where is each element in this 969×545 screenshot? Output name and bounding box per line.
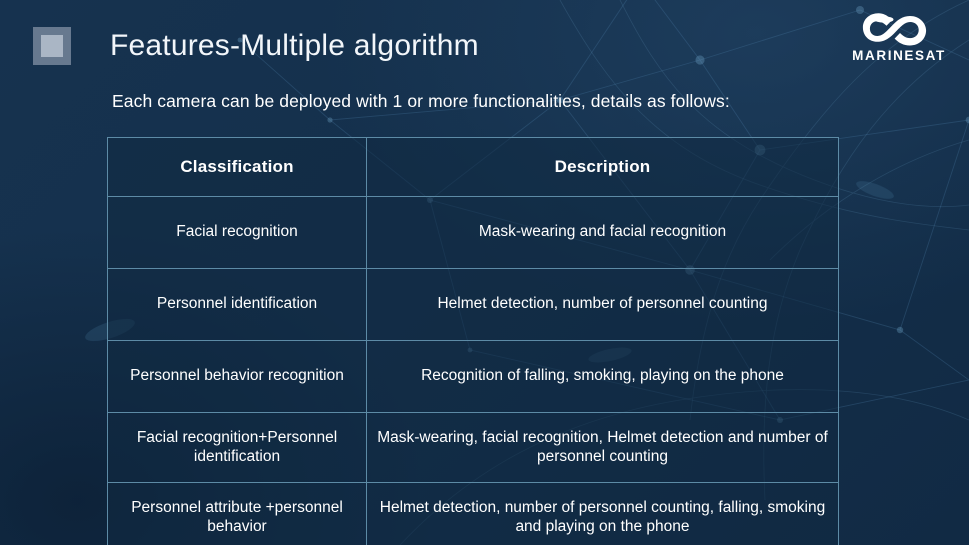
infinity-wave-icon [856, 10, 942, 46]
cell-description: Recognition of falling, smoking, playing… [367, 341, 839, 413]
cell-classification: Personnel identification [108, 269, 367, 341]
table-row: Personnel attribute +personnel behavior … [108, 483, 839, 545]
brand-logo: MARINESAT [845, 10, 953, 68]
square-bullet-inner [41, 35, 63, 57]
cell-description: Helmet detection, number of personnel co… [367, 269, 839, 341]
square-bullet-icon [33, 27, 71, 65]
logo-wordmark: MARINESAT [852, 48, 946, 63]
table-row: Facial recognition+Personnel identificat… [108, 413, 839, 483]
table-row: Personnel identification Helmet detectio… [108, 269, 839, 341]
table-body: Facial recognition Mask-wearing and faci… [108, 197, 839, 545]
cell-description: Helmet detection, number of personnel co… [367, 483, 839, 545]
cell-classification: Facial recognition [108, 197, 367, 269]
table-row: Personnel behavior recognition Recogniti… [108, 341, 839, 413]
slide-canvas: Features-Multiple algorithm MARINESAT Ea… [0, 0, 969, 545]
column-header-classification: Classification [108, 138, 367, 197]
features-table: Classification Description Facial recogn… [107, 137, 839, 545]
table-head: Classification Description [108, 138, 839, 197]
cell-description: Mask-wearing, facial recognition, Helmet… [367, 413, 839, 483]
column-header-description: Description [367, 138, 839, 197]
cell-description: Mask-wearing and facial recognition [367, 197, 839, 269]
table-header-row: Classification Description [108, 138, 839, 197]
cell-classification: Personnel behavior recognition [108, 341, 367, 413]
page-title: Features-Multiple algorithm [110, 29, 479, 63]
cell-classification: Facial recognition+Personnel identificat… [108, 413, 367, 483]
cell-classification: Personnel attribute +personnel behavior [108, 483, 367, 545]
table-row: Facial recognition Mask-wearing and faci… [108, 197, 839, 269]
slide-subtitle: Each camera can be deployed with 1 or mo… [112, 91, 730, 112]
slide-header: Features-Multiple algorithm [0, 18, 860, 74]
